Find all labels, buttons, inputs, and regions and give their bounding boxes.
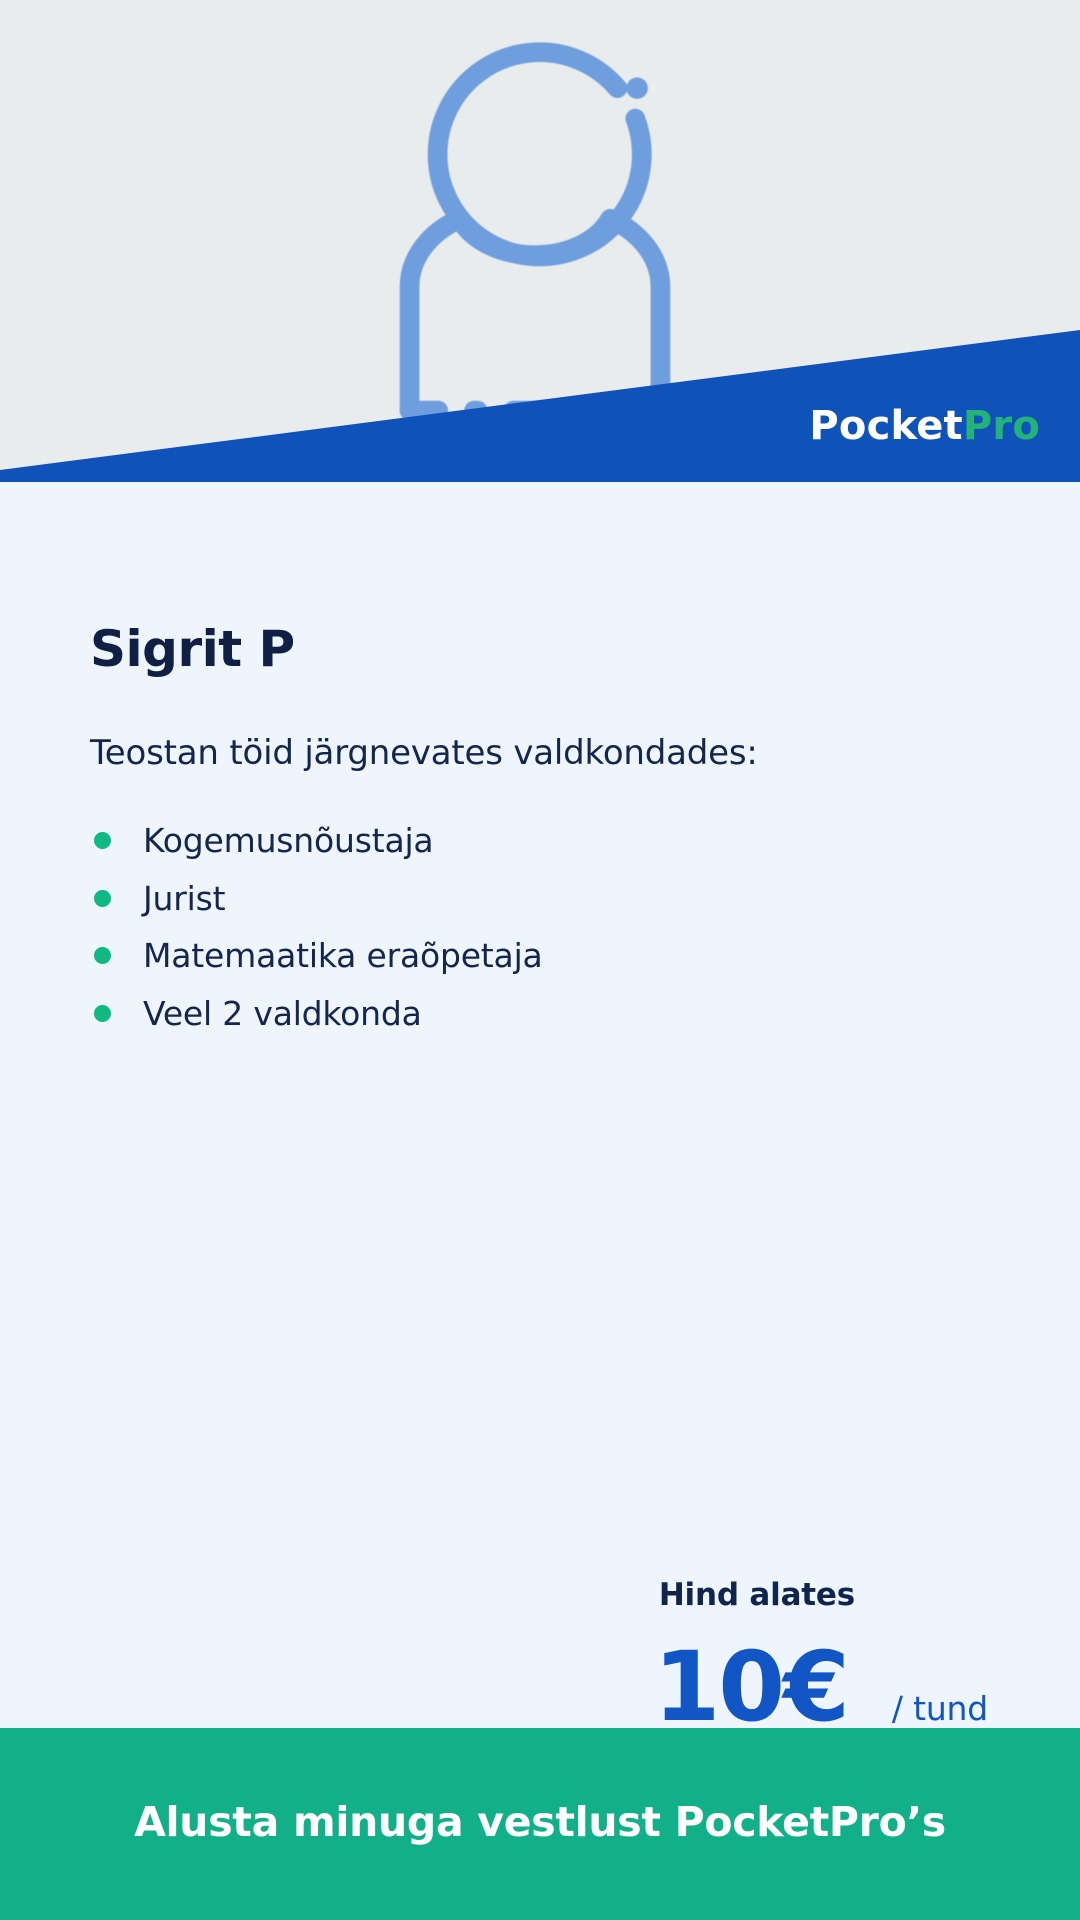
bullet-dot-icon <box>94 832 111 849</box>
list-item: Matemaatika eraõpetaja <box>90 934 990 978</box>
profile-intro: Teostan töid järgnevates valdkondades: <box>90 677 990 773</box>
card-body: Sigrit P Teostan töid järgnevates valdko… <box>0 482 1080 1728</box>
brand-logo: PocketPro <box>809 406 1040 446</box>
start-chat-button[interactable]: Alusta minuga vestlust PocketPro’s <box>0 1728 1080 1920</box>
list-item: Kogemusnõustaja <box>90 819 990 863</box>
skill-label: Jurist <box>143 877 225 921</box>
bullet-dot-icon <box>94 947 111 964</box>
person-avatar-icon <box>300 29 770 459</box>
start-chat-button-label: Alusta minuga vestlust PocketPro’s <box>134 1798 946 1850</box>
brand-logo-accent: Pro <box>963 403 1040 449</box>
profile-name: Sigrit P <box>90 482 990 677</box>
price-caption: Hind alates <box>0 1577 855 1613</box>
skill-list: Kogemusnõustaja Jurist Matemaatika eraõp… <box>90 773 990 1035</box>
brand-logo-primary: Pocket <box>809 403 963 449</box>
price-amount: 10€ <box>653 1639 847 1735</box>
price-unit: / tund <box>892 1689 988 1728</box>
card-header: PocketPro <box>0 0 1080 482</box>
skill-label: Matemaatika eraõpetaja <box>143 934 543 978</box>
bullet-dot-icon <box>94 890 111 907</box>
skill-label-more: Veel 2 valdkonda <box>143 992 422 1036</box>
list-item[interactable]: Veel 2 valdkonda <box>90 992 990 1036</box>
bullet-dot-icon <box>94 1005 111 1022</box>
skill-label: Kogemusnõustaja <box>143 819 433 863</box>
price-row: 10€ / tund <box>0 1639 990 1735</box>
profile-card: PocketPro Sigrit P Teostan töid järgneva… <box>0 0 1080 1920</box>
list-item: Jurist <box>90 877 990 921</box>
price-block: Hind alates 10€ / tund <box>0 1577 1080 1735</box>
